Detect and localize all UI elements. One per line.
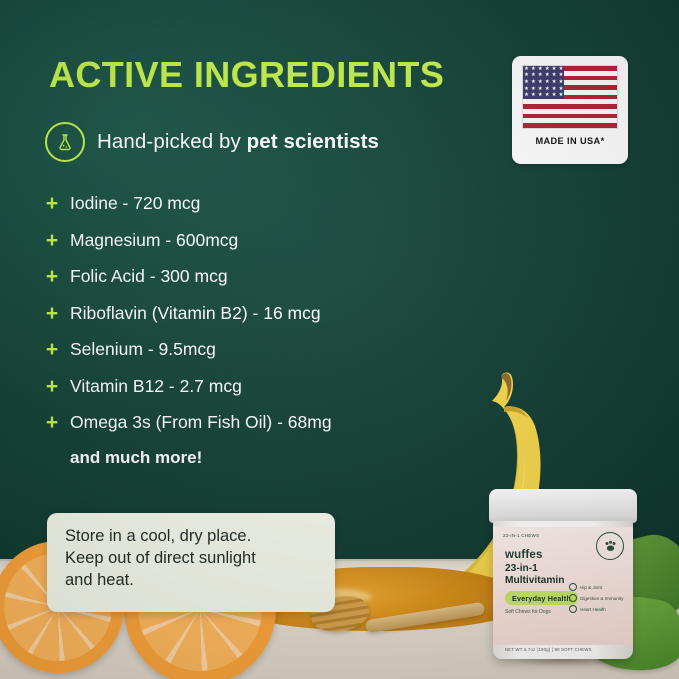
product-chews-text: Soft Chews for Dogs [505, 609, 551, 615]
plus-icon: + [45, 193, 59, 214]
plus-icon: + [45, 303, 59, 324]
feature-bullet-icon [569, 583, 577, 591]
usa-flag-icon: ★★★★★★ ★★★★★★ ★★★★★★ ★★★★★★ ★★★★★★ [522, 65, 618, 129]
ingredient-label: Omega 3s (From Fish Oil) - 68mg [70, 414, 332, 432]
ingredient-label: Magnesium - 600mcg [70, 232, 238, 250]
product-name: 23-in-1 Multivitamin [505, 563, 564, 586]
page-title: ACTIVE INGREDIENTS [49, 57, 444, 93]
subtitle-emphasis: pet scientists [247, 130, 379, 153]
product-pill-label: Everyday Health [505, 591, 578, 605]
list-item: + Riboflavin (Vitamin B2) - 16 mcg [45, 302, 505, 323]
list-item: + Iodine - 720 mcg [45, 192, 505, 213]
feature-item: Digestion & Immunity [569, 594, 625, 602]
ingredient-label: Vitamin B12 - 2.7 mcg [70, 378, 242, 396]
storage-note-line3: and heat. [65, 570, 317, 592]
brand-name: wuffes [505, 549, 543, 561]
ingredient-label: Folic Acid - 300 mcg [70, 268, 228, 286]
feature-item: Heart Health [569, 605, 625, 613]
supplement-jar: 23-IN-1 CHEWS wuffes 23-in-1 Multivitami… [489, 489, 637, 661]
ingredients-list: + Iodine - 720 mcg + Magnesium - 600mcg … [45, 192, 505, 468]
feature-label: Heart Health [580, 607, 606, 612]
feature-label: Digestion & Immunity [580, 596, 623, 601]
leafy-green [527, 488, 633, 586]
subtitle: Hand-picked by pet scientists [97, 130, 379, 154]
subtitle-prefix: Hand-picked by [97, 130, 247, 153]
plus-icon: + [45, 376, 59, 397]
leafy-green [566, 527, 679, 639]
list-item: + Vitamin B12 - 2.7 mcg [45, 375, 505, 396]
jar-label: 23-IN-1 CHEWS wuffes 23-in-1 Multivitami… [493, 527, 633, 645]
jar-body: 23-IN-1 CHEWS wuffes 23-in-1 Multivitami… [493, 521, 633, 659]
made-in-usa-badge: ★★★★★★ ★★★★★★ ★★★★★★ ★★★★★★ ★★★★★★ MADE … [512, 56, 628, 164]
ingredient-label: Riboflavin (Vitamin B2) - 16 mcg [70, 305, 321, 323]
feature-bullet-icon [569, 594, 577, 602]
product-footer-text: NET WT 6.7oz (190g) | 90 SOFT CHEWS [505, 647, 592, 652]
feature-item: Hip & Joint [569, 583, 625, 591]
product-name-line2: Multivitamin [505, 575, 564, 586]
list-item: + Omega 3s (From Fish Oil) - 68mg [45, 411, 505, 432]
storage-note-line2: Keep out of direct sunlight [65, 548, 317, 570]
plus-icon: + [45, 339, 59, 360]
promo-graphic: 23-IN-1 CHEWS wuffes 23-in-1 Multivitami… [0, 0, 679, 679]
product-features: Hip & Joint Digestion & Immunity Heart H… [569, 583, 625, 613]
product-name-line1: 23-in-1 [505, 563, 538, 574]
subtitle-row: Hand-picked by pet scientists [45, 122, 379, 162]
ingredient-label: Iodine - 720 mcg [70, 195, 200, 213]
plus-icon: + [45, 412, 59, 433]
feature-bullet-icon [569, 605, 577, 613]
made-in-usa-caption: MADE IN USA* [535, 136, 604, 146]
ingredient-label: Selenium - 9.5mcg [70, 341, 216, 359]
flask-icon [45, 122, 85, 162]
jar-top-mark: 23-IN-1 CHEWS [503, 533, 539, 538]
jar-shadow [470, 648, 660, 670]
feature-label: Hip & Joint [580, 585, 602, 590]
leafy-green [575, 588, 679, 679]
list-item: + Folic Acid - 300 mcg [45, 265, 505, 286]
plus-icon: + [45, 266, 59, 287]
plus-icon: + [45, 230, 59, 251]
jar-lid [489, 489, 637, 523]
list-item: + Selenium - 9.5mcg [45, 338, 505, 359]
list-item: + Magnesium - 600mcg [45, 229, 505, 250]
paw-icon [596, 532, 624, 560]
honey-dipper-handle [365, 602, 486, 634]
flag-canton: ★★★★★★ ★★★★★★ ★★★★★★ ★★★★★★ ★★★★★★ [523, 66, 564, 99]
storage-note-card: Store in a cool, dry place. Keep out of … [47, 513, 335, 612]
storage-note-line1: Store in a cool, dry place. [65, 526, 317, 548]
more-label: and much more! [70, 448, 505, 468]
